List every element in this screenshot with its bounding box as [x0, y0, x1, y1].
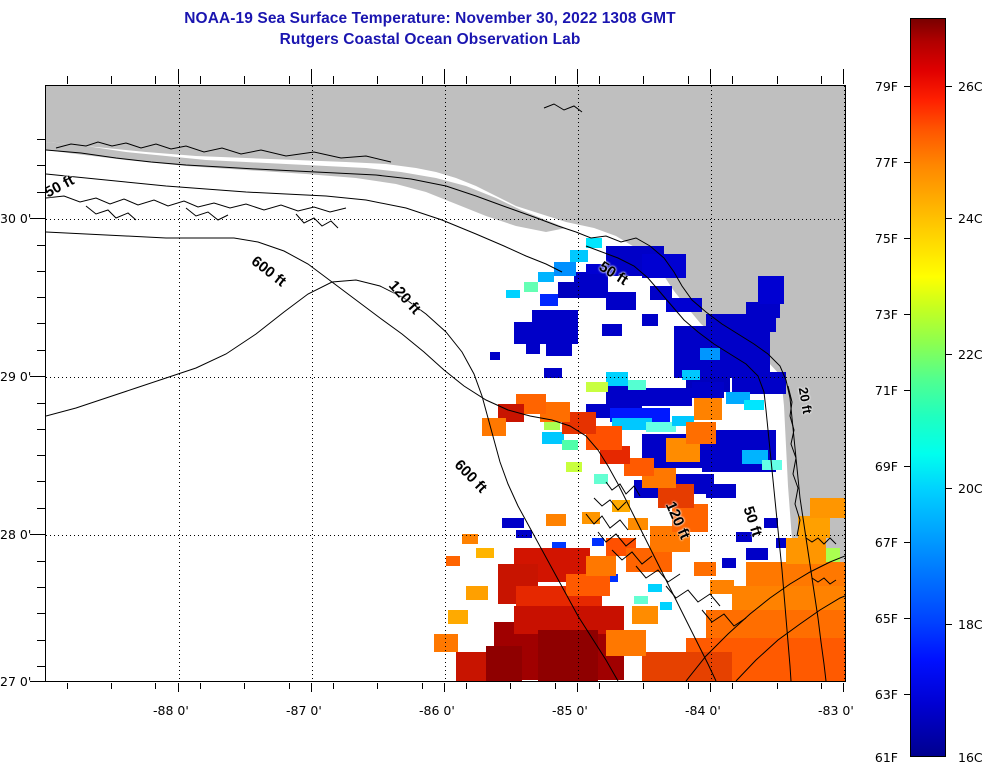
- gridline-lat-29: [46, 377, 845, 378]
- xtick-label--86: -86 0': [419, 703, 455, 718]
- xtick-top-major: [577, 69, 578, 84]
- xtick-minor: [555, 683, 556, 689]
- xtick-top-minor: [289, 76, 290, 84]
- ytick-minor: [37, 481, 45, 482]
- xtick-label--83: -83 0': [818, 703, 854, 718]
- title-line-2: Rutgers Coastal Ocean Observation Lab: [0, 29, 860, 50]
- cb-label-26C: 26C: [958, 79, 983, 94]
- cb-label-22C: 22C: [958, 347, 983, 362]
- ytick-minor: [37, 350, 45, 351]
- ytick-minor: [37, 561, 45, 562]
- xtick-top-minor: [200, 76, 201, 84]
- cb-tick-63F: [904, 694, 910, 695]
- xtick-label--87: -87 0': [286, 703, 322, 718]
- xtick-minor: [510, 683, 511, 689]
- xtick-major-87: [311, 683, 312, 692]
- cb-tick-22C: [946, 354, 952, 355]
- xtick-top-minor: [688, 76, 689, 84]
- xtick-minor: [333, 683, 334, 689]
- ytick-minor: [37, 508, 45, 509]
- cb-tick-67F: [904, 542, 910, 543]
- ytick-major-27: [30, 681, 45, 682]
- sst-colorbar[interactable]: 79F 77F 75F 73F 71F 69F 67F 65F 63F 61F …: [910, 18, 946, 757]
- sst-map-plot[interactable]: 50 ft 600 ft 120 ft 600 ft 120 ft 50 ft …: [45, 85, 846, 682]
- cb-tick-73F: [904, 314, 910, 315]
- cb-label-67F: 67F: [854, 535, 898, 550]
- xtick-minor: [377, 683, 378, 689]
- xtick-minor: [67, 683, 68, 689]
- ytick-minor: [37, 165, 45, 166]
- xtick-minor: [200, 683, 201, 689]
- xtick-minor: [777, 683, 778, 689]
- xtick-minor: [688, 683, 689, 689]
- xtick-top-minor: [732, 76, 733, 84]
- ytick-major-28: [30, 534, 45, 535]
- ytick-minor: [37, 666, 45, 667]
- cb-label-61F: 61F: [854, 750, 898, 765]
- gridline-lat-30: [46, 219, 845, 220]
- cb-label-65F: 65F: [854, 611, 898, 626]
- xtick-minor: [643, 683, 644, 689]
- ytick-minor: [37, 403, 45, 404]
- xtick-minor: [244, 683, 245, 689]
- colorbar-gradient: [910, 18, 946, 757]
- xtick-label--85: -85 0': [552, 703, 588, 718]
- xtick-top-minor: [555, 76, 556, 84]
- xtick-top-minor: [155, 76, 156, 84]
- ytick-label-28: 28 0': [0, 527, 28, 542]
- xtick-top-minor: [422, 76, 423, 84]
- xtick-minor: [732, 683, 733, 689]
- xtick-top-minor: [643, 76, 644, 84]
- cb-tick-26C: [946, 86, 952, 87]
- xtick-top-minor: [377, 76, 378, 84]
- cb-label-75F: 75F: [854, 231, 898, 246]
- ytick-minor: [37, 139, 45, 140]
- ytick-minor: [37, 455, 45, 456]
- xtick-top-minor: [111, 76, 112, 84]
- xtick-top-minor: [333, 76, 334, 84]
- ytick-minor: [37, 192, 45, 193]
- xtick-label--84: -84 0': [685, 703, 721, 718]
- cb-label-24C: 24C: [958, 211, 983, 226]
- ytick-major-29: [30, 376, 45, 377]
- cb-tick-20C: [946, 488, 952, 489]
- xtick-major-88: [178, 683, 179, 692]
- xtick-top-major: [311, 69, 312, 84]
- cb-tick-77F: [904, 162, 910, 163]
- cb-label-69F: 69F: [854, 459, 898, 474]
- xtick-top-minor: [777, 76, 778, 84]
- ytick-minor: [37, 429, 45, 430]
- xtick-top-minor: [67, 76, 68, 84]
- xtick-major-84: [710, 683, 711, 692]
- cb-label-20C: 20C: [958, 481, 983, 496]
- xtick-major-83: [843, 683, 844, 692]
- gridline-lon--83: [844, 86, 845, 681]
- cb-label-18C: 18C: [958, 617, 983, 632]
- ytick-label-30: 30 0': [0, 211, 28, 226]
- cb-tick-24C: [946, 218, 952, 219]
- cb-label-16C: 16C: [958, 750, 983, 765]
- xtick-top-major: [843, 69, 844, 84]
- xtick-top-minor: [244, 76, 245, 84]
- xtick-minor: [422, 683, 423, 689]
- cb-label-73F: 73F: [854, 307, 898, 322]
- xtick-top-minor: [821, 76, 822, 84]
- cb-label-71F: 71F: [854, 383, 898, 398]
- gridline-lon--84: [711, 86, 712, 681]
- ytick-minor: [37, 640, 45, 641]
- chart-title-block: NOAA-19 Sea Surface Temperature: Novembe…: [0, 8, 860, 50]
- cb-label-63F: 63F: [854, 687, 898, 702]
- gridline-lon--87: [312, 86, 313, 681]
- xtick-major-85: [577, 683, 578, 692]
- xtick-major-86: [444, 683, 445, 692]
- xtick-minor: [599, 683, 600, 689]
- xtick-top-minor: [510, 76, 511, 84]
- xtick-top-major: [710, 69, 711, 84]
- cb-tick-75F: [904, 238, 910, 239]
- cb-tick-71F: [904, 390, 910, 391]
- xtick-top-major: [444, 69, 445, 84]
- ytick-label-29: 29 0': [0, 369, 28, 384]
- ytick-minor: [37, 587, 45, 588]
- gridline-lat-27: [46, 681, 845, 682]
- xtick-minor: [821, 683, 822, 689]
- ytick-minor: [37, 613, 45, 614]
- ytick-label-27: 27 0': [0, 674, 28, 689]
- xtick-top-minor: [599, 76, 600, 84]
- xtick-minor: [289, 683, 290, 689]
- xtick-minor: [111, 683, 112, 689]
- xtick-top-minor: [466, 76, 467, 84]
- xtick-label--88: -88 0': [153, 703, 189, 718]
- xtick-minor: [466, 683, 467, 689]
- cb-label-77F: 77F: [854, 155, 898, 170]
- gridline-lon--86: [445, 86, 446, 681]
- cb-tick-65F: [904, 618, 910, 619]
- ytick-major-30: [30, 218, 45, 219]
- gridline-lat-28: [46, 535, 845, 536]
- cb-tick-18C: [946, 624, 952, 625]
- ytick-minor: [37, 271, 45, 272]
- gridline-lon--88: [179, 86, 180, 681]
- cb-label-79F: 79F: [854, 79, 898, 94]
- title-line-1: NOAA-19 Sea Surface Temperature: Novembe…: [0, 8, 860, 29]
- xtick-top-major: [178, 69, 179, 84]
- ytick-minor: [37, 323, 45, 324]
- cb-tick-79F: [904, 86, 910, 87]
- cb-tick-69F: [904, 466, 910, 467]
- xtick-minor: [155, 683, 156, 689]
- ytick-minor: [37, 297, 45, 298]
- ytick-minor: [37, 245, 45, 246]
- gridline-lon--85: [578, 86, 579, 681]
